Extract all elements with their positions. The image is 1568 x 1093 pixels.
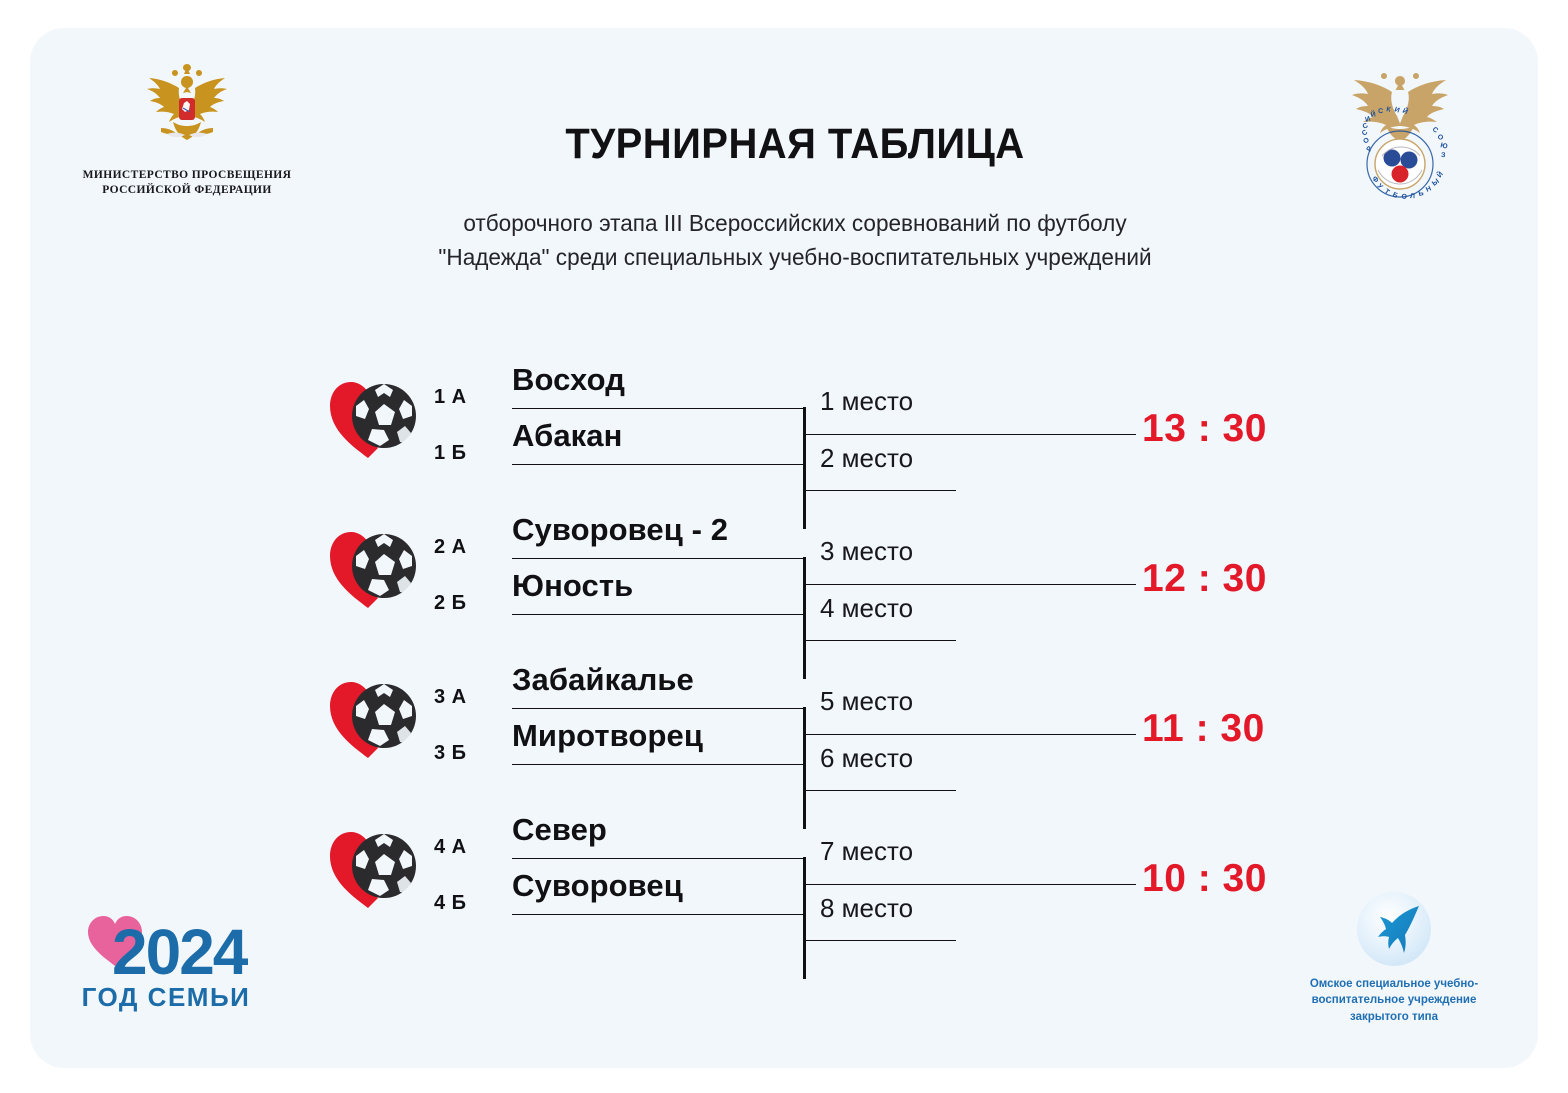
- team-rule-bottom: [512, 614, 804, 615]
- subtitle-line2: "Надежда" среди специальных учебно-воспи…: [438, 244, 1151, 270]
- omsk-institution-block: Омское специальное учебно- воспитательно…: [1286, 890, 1502, 1025]
- svg-text:Ь: Ь: [1418, 190, 1424, 198]
- team-rule-top: [512, 708, 804, 709]
- page-title: ТУРНИРНАЯ ТАБЛИЦА: [363, 120, 1228, 169]
- svg-text:Ы: Ы: [1431, 178, 1441, 188]
- place-label-bottom: 8 место: [820, 893, 913, 924]
- place-rule-long: [806, 584, 1136, 585]
- svg-text:Н: Н: [1425, 185, 1432, 193]
- bracket-pair: 2 А 2 Б Суворовец - 2 Юность 3 место 4 м…: [30, 494, 1538, 644]
- team-name-bottom: Абакан: [512, 418, 832, 454]
- seed-top: 2 А: [434, 536, 490, 559]
- match-time: 12 : 30: [1142, 557, 1267, 601]
- svg-text:О: О: [1401, 193, 1409, 201]
- svg-text:С: С: [1378, 108, 1383, 115]
- heart-football-icon: [322, 670, 418, 762]
- subtitle-line1: отборочного этапа III Всероссийских соре…: [463, 210, 1126, 236]
- place-label-bottom: 2 место: [820, 443, 913, 474]
- place-rule-long: [806, 734, 1136, 735]
- svg-text:З: З: [1441, 152, 1446, 159]
- omsk-caption-line3: закрытого типа: [1286, 1009, 1502, 1025]
- russian-coat-of-arms-icon: [127, 62, 247, 158]
- svg-text:Ю: Ю: [1440, 142, 1449, 151]
- heart-football-icon: [322, 370, 418, 462]
- heart-football-icon: [322, 820, 418, 912]
- svg-text:Б: Б: [1391, 192, 1399, 200]
- header: ТУРНИРНАЯ ТАБЛИЦА отборочного этапа III …: [330, 120, 1260, 275]
- year-of-family-logo: 2024 ГОД СЕМЬИ: [66, 894, 266, 1014]
- bracket-connector: [803, 857, 806, 979]
- seed-bottom: 2 Б: [434, 592, 490, 615]
- team-rule-top: [512, 408, 804, 409]
- team-name-top: Север: [512, 812, 832, 848]
- place-rule-long: [806, 434, 1136, 435]
- svg-text:О: О: [1436, 134, 1444, 143]
- seed-top: 4 А: [434, 836, 490, 859]
- team-name-top: Забайкалье: [512, 662, 832, 698]
- team-rule-top: [512, 858, 804, 859]
- ministry-caption: МИНИСТЕРСТВО ПРОСВЕЩЕНИЯ РОССИЙСКОЙ ФЕДЕ…: [72, 168, 302, 198]
- team-rule-bottom: [512, 764, 804, 765]
- omsk-caption-line1: Омское специальное учебно-: [1286, 976, 1502, 992]
- team-rule-bottom: [512, 914, 804, 915]
- seed-top: 1 А: [434, 386, 490, 409]
- place-label-top: 3 место: [820, 536, 913, 567]
- heart-football-icon: [322, 520, 418, 612]
- family-year-text: 2024: [112, 916, 249, 988]
- ministry-logo-block: МИНИСТЕРСТВО ПРОСВЕЩЕНИЯ РОССИЙСКОЙ ФЕДЕ…: [72, 62, 302, 198]
- subtitle: отборочного этапа III Всероссийских соре…: [349, 207, 1242, 275]
- place-rule-long: [806, 884, 1136, 885]
- svg-text:О: О: [1362, 136, 1371, 145]
- svg-text:Л: Л: [1410, 193, 1415, 200]
- rfu-logo-block: Р О С С И Й С К И Й Ф У Т Б О Л Ь Н Ы Й: [1320, 60, 1480, 210]
- blue-bird-icon: [1355, 890, 1433, 968]
- place-rule-short: [806, 640, 956, 641]
- ministry-caption-line2: РОССИЙСКОЙ ФЕДЕРАЦИИ: [72, 183, 302, 198]
- place-rule-short: [806, 790, 956, 791]
- team-rule-bottom: [512, 464, 804, 465]
- svg-text:Ф: Ф: [1370, 175, 1379, 184]
- omsk-caption-line2: воспитательное учреждение: [1286, 992, 1502, 1008]
- seed-top: 3 А: [434, 686, 490, 709]
- seed-bottom: 4 Б: [434, 892, 490, 915]
- family-caption-text: ГОД СЕМЬИ: [82, 982, 251, 1012]
- place-label-bottom: 6 место: [820, 743, 913, 774]
- ministry-caption-line1: МИНИСТЕРСТВО ПРОСВЕЩЕНИЯ: [72, 168, 302, 183]
- svg-text:С: С: [1431, 126, 1439, 135]
- place-label-top: 7 место: [820, 836, 913, 867]
- place-label-bottom: 4 место: [820, 593, 913, 624]
- place-rule-short: [806, 490, 956, 491]
- place-label-top: 5 место: [820, 686, 913, 717]
- team-name-bottom: Суворовец: [512, 868, 832, 904]
- seed-bottom: 1 Б: [434, 442, 490, 465]
- team-rule-top: [512, 558, 804, 559]
- team-name-top: Суворовец - 2: [512, 512, 832, 548]
- rfu-emblem-icon: Р О С С И Й С К И Й Ф У Т Б О Л Ь Н Ы Й: [1320, 60, 1480, 210]
- team-name-bottom: Юность: [512, 568, 832, 604]
- seed-bottom: 3 Б: [434, 742, 490, 765]
- tournament-bracket: 1 А 1 Б Восход Абакан 1 место 2 место 13…: [30, 344, 1538, 944]
- place-rule-short: [806, 940, 956, 941]
- place-label-top: 1 место: [820, 386, 913, 417]
- match-time: 10 : 30: [1142, 857, 1267, 901]
- match-time: 11 : 30: [1142, 707, 1265, 751]
- team-name-bottom: Миротворец: [512, 718, 832, 754]
- team-name-top: Восход: [512, 362, 832, 398]
- omsk-caption: Омское специальное учебно- воспитательно…: [1286, 976, 1502, 1025]
- match-time: 13 : 30: [1142, 407, 1267, 451]
- bracket-pair: 1 А 1 Б Восход Абакан 1 место 2 место 13…: [30, 344, 1538, 494]
- bracket-pair: 3 А 3 Б Забайкалье Миротворец 5 место 6 …: [30, 644, 1538, 794]
- poster-card: МИНИСТЕРСТВО ПРОСВЕЩЕНИЯ РОССИЙСКОЙ ФЕДЕ…: [30, 28, 1538, 1068]
- svg-text:Р: Р: [1366, 145, 1375, 153]
